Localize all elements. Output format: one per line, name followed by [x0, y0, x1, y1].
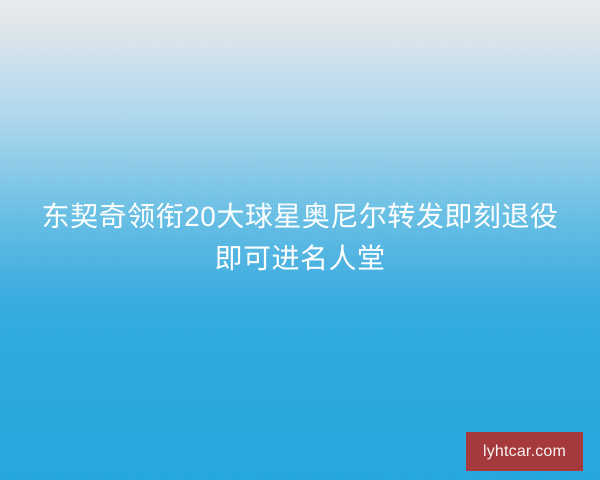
watermark-label: lyhtcar.com — [483, 444, 566, 460]
headline-title: 东契奇领衔20大球星奥尼尔转发即刻退役即可进名人堂 — [0, 196, 600, 280]
watermark-badge: lyhtcar.com — [466, 432, 583, 471]
image-canvas: 东契奇领衔20大球星奥尼尔转发即刻退役即可进名人堂 lyhtcar.com — [0, 0, 600, 480]
